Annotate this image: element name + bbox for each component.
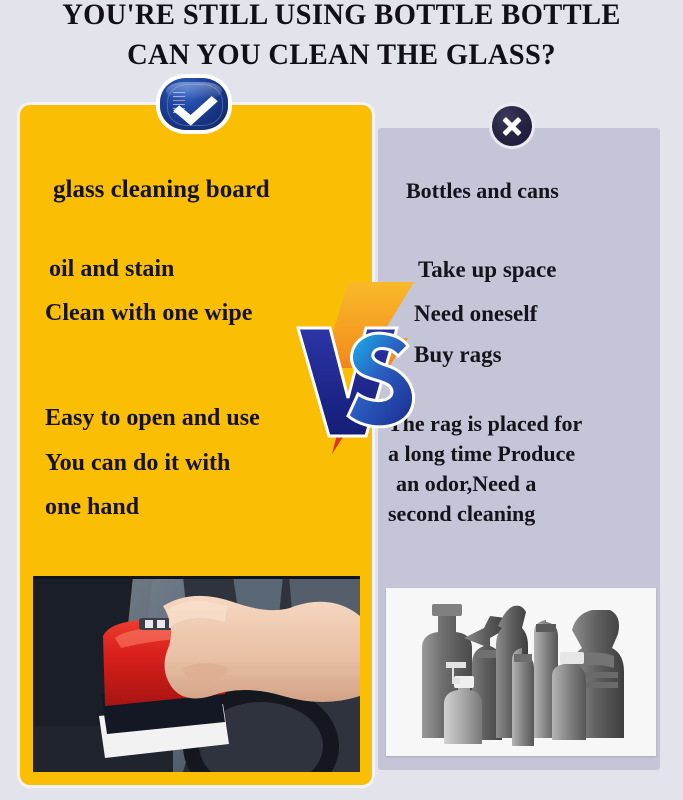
- right-note-line-4: second cleaning: [388, 499, 664, 529]
- vs-logo: [296, 276, 424, 456]
- vs-logo-graphic: [296, 276, 424, 456]
- right-note-block: The rag is placed for a long time Produc…: [388, 409, 664, 529]
- right-note-line-2: a long time Produce: [388, 439, 664, 469]
- right-product-photo: [386, 588, 656, 756]
- left-benefit-5: one hand: [45, 494, 139, 521]
- check-badge-icon: [160, 78, 228, 130]
- left-photo-illustration: [33, 576, 360, 772]
- right-photo-illustration: [386, 588, 656, 756]
- right-drawback-3: Buy rags: [414, 342, 502, 368]
- right-drawback-2: Need oneself: [414, 301, 537, 327]
- left-benefit-2: Clean with one wipe: [45, 300, 252, 327]
- right-drawback-1: Take up space: [418, 257, 556, 283]
- left-benefit-3: Easy to open and use: [45, 405, 260, 432]
- right-note-line-1: The rag is placed for: [388, 409, 664, 439]
- title-line-2: CAN YOU CLEAN THE GLASS?: [17, 38, 666, 72]
- check-badge-gloss: [166, 82, 222, 100]
- left-panel-heading: glass cleaning board: [53, 176, 270, 204]
- right-panel-heading: Bottles and cans: [406, 178, 559, 204]
- left-product-photo: [33, 576, 360, 772]
- left-benefit-4: You can do it with: [45, 450, 230, 477]
- left-benefit-1: oil and stain: [49, 256, 174, 283]
- infographic-canvas: YOU'RE STILL USING BOTTLE BOTTLE CAN YOU…: [0, 0, 683, 800]
- x-badge-icon: [492, 106, 532, 146]
- title-line-1: YOU'RE STILL USING BOTTLE BOTTLE: [17, 0, 666, 32]
- right-note-line-3: an odor,Need a: [388, 469, 664, 499]
